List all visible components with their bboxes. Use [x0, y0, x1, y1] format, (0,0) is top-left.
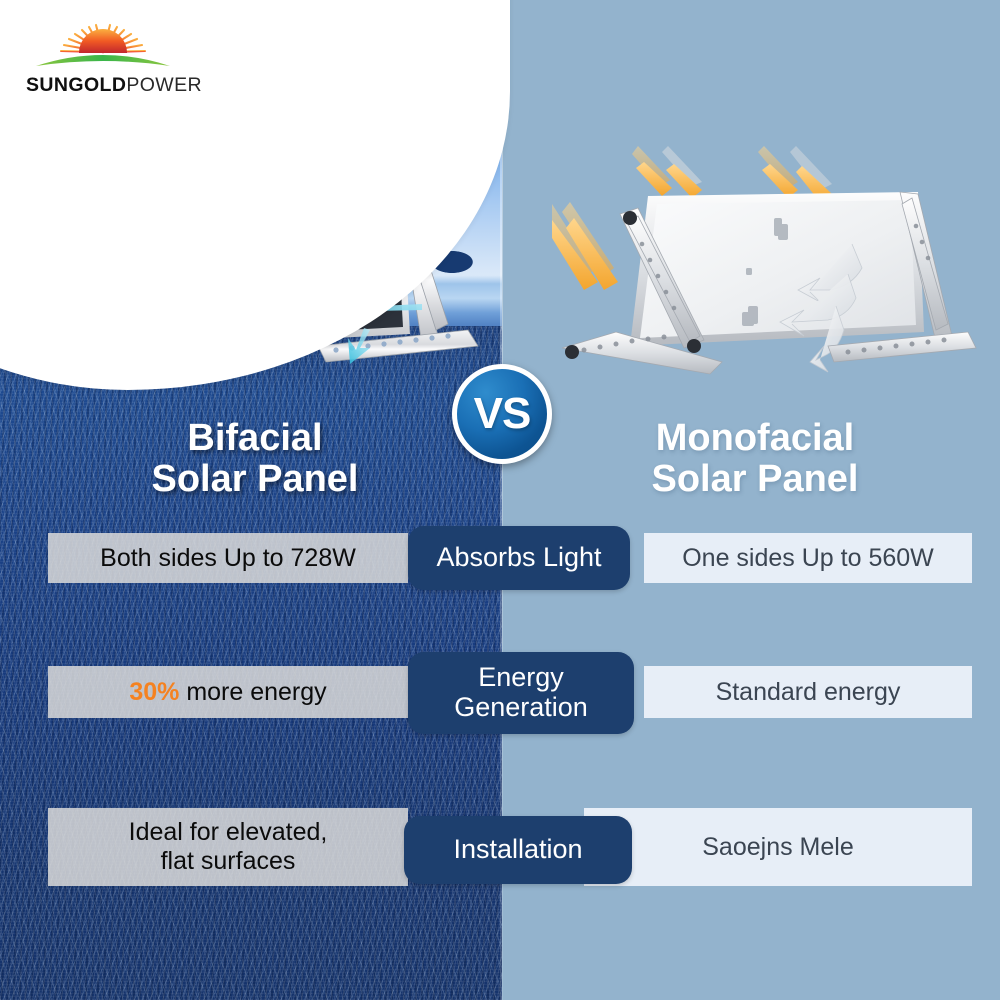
row1-left-value: Both sides Up to 728W [48, 533, 408, 583]
right-title-line1: Monofacial [540, 418, 970, 459]
row1-right-value: One sides Up to 560W [644, 533, 972, 583]
brand-name: SUNGOLDPOWER [26, 74, 202, 97]
row2-feature-label: Energy Generation [408, 652, 634, 734]
row3-left-value: Ideal for elevated, flat surfaces [48, 808, 408, 886]
left-title-line2: Solar Panel [40, 459, 470, 500]
infographic-canvas: SUNGOLDPOWER Bifacial Solar Panel Monofa… [0, 0, 1000, 1000]
row2-left-value: 30% more energy [48, 666, 408, 718]
row3-right-value: Saoejns Mele [584, 808, 972, 886]
row2-highlight-percent: 30% [129, 678, 179, 706]
brand-name-light: POWER [126, 74, 202, 96]
row3-left-line2: flat surfaces [161, 847, 296, 876]
left-title-line1: Bifacial [40, 418, 470, 459]
monofacial-solar-panel-illustration [552, 140, 992, 380]
right-title-line2: Solar Panel [540, 459, 970, 500]
sunrise-icon [28, 22, 178, 74]
row1-feature-label: Absorbs Light [408, 526, 630, 590]
row2-right-value: Standard energy [644, 666, 972, 718]
brand-logo[interactable]: SUNGOLDPOWER [22, 22, 202, 104]
orange-arrow-icon [632, 146, 832, 202]
brand-name-bold: SUNGOLD [26, 74, 126, 96]
orange-arrow-icon [552, 202, 618, 290]
row3-left-line1: Ideal for elevated, [129, 818, 328, 847]
vs-badge: VS [452, 364, 552, 464]
right-panel-title: Monofacial Solar Panel [540, 418, 970, 499]
row2-feature-line2: Generation [454, 693, 588, 723]
left-panel-title: Bifacial Solar Panel [40, 418, 470, 499]
row2-feature-line1: Energy [478, 663, 564, 693]
row2-left-text: more energy [179, 678, 326, 706]
row3-feature-label: Installation [404, 816, 632, 884]
